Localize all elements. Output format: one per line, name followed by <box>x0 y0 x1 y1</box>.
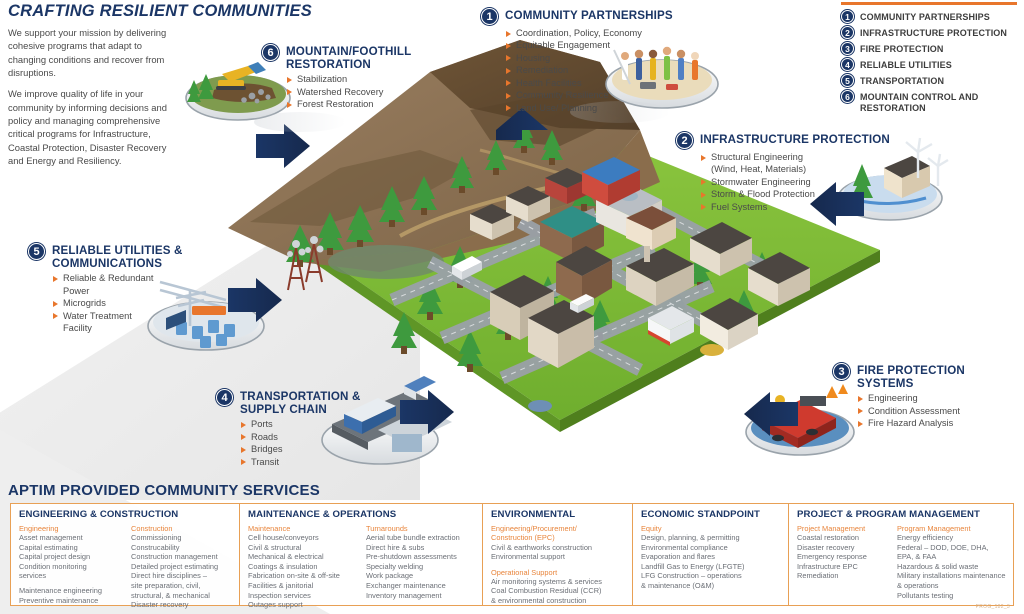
bullet-text: Housing <box>516 53 550 63</box>
services-panel-title: APTIM PROVIDED COMMUNITY SERVICES <box>8 482 320 499</box>
service-item: Inventory management <box>366 591 475 601</box>
service-item: Pre-shutdown assessments <box>366 552 475 562</box>
services-column-engineering-construction: ENGINEERING & CONSTRUCTION Engineering A… <box>11 504 239 605</box>
bullet-item: Stabilization <box>286 73 427 85</box>
service-item: & operations <box>897 581 1006 591</box>
bullet-triangle-icon <box>53 276 58 282</box>
bullet-item: Coordination, Policy, Economy <box>505 27 686 39</box>
service-item: Condition monitoring <box>19 562 123 572</box>
callout-infrastructure-protection: 2 INFRASTRUCTURE PROTECTION Structural E… <box>676 132 891 213</box>
bullet-text: Fuel Systems <box>711 202 767 212</box>
bullet-item: Housing <box>505 52 686 64</box>
service-item: LFG Construction – operations <box>641 571 781 581</box>
callout-bullets-4: Ports Roads Bridges Transit <box>240 418 381 468</box>
services-subheading-line2: Construction (EPC) <box>491 533 625 542</box>
bullet-text: Condition Assessment <box>868 406 960 416</box>
bullet-item-continuation: Power <box>52 285 188 297</box>
bullet-triangle-icon <box>287 77 292 83</box>
legend-badge-1: 1 <box>841 10 854 23</box>
bullet-text: Transit <box>251 457 279 467</box>
service-item: Landfill Gas to Energy (LFGTE) <box>641 562 781 572</box>
service-item: Asset management <box>19 533 123 543</box>
services-subgroup-maintenance: Maintenance Cell house/conveyors Civil &… <box>248 524 358 610</box>
bullet-item: Remediation <box>505 64 686 76</box>
legend-item-3[interactable]: 3 FIRE PROTECTION <box>841 42 1021 55</box>
callout-badge-3: 3 <box>833 363 850 380</box>
bullet-text: Water Treatment <box>63 311 132 321</box>
bullet-text: Microgrids <box>63 298 106 308</box>
bullet-triangle-icon <box>701 192 706 198</box>
bullet-triangle-icon <box>241 434 246 440</box>
services-column-heading: ECONOMIC STANDPOINT <box>641 509 781 520</box>
bullet-text: Stabilization <box>297 74 347 84</box>
service-item: Direct hire disciplines – <box>131 571 232 581</box>
service-item: Capital project design <box>19 552 123 562</box>
services-column-environmental: ENVIRONMENTAL Engineering/Procurement/ C… <box>482 504 632 605</box>
bullet-text: Community Resilience <box>516 90 608 100</box>
callout-badge-4: 4 <box>216 389 233 406</box>
bullet-item: Reliable & Redundant <box>52 272 188 284</box>
callout-title-2: INFRASTRUCTURE PROTECTION <box>700 132 890 146</box>
bullet-item: Engineering <box>857 392 1023 404</box>
bullet-triangle-icon <box>506 68 511 74</box>
bullet-triangle-icon <box>858 408 863 414</box>
bullet-text: Power <box>63 286 89 296</box>
bullet-text: Structural Engineering <box>711 152 803 162</box>
bullet-triangle-icon <box>506 43 511 49</box>
services-column-maintenance-operations: MAINTENANCE & OPERATIONS Maintenance Cel… <box>239 504 482 605</box>
service-item: Preventive maintenance <box>19 596 123 606</box>
service-item: Commissioning <box>131 533 232 543</box>
legend-badge-3: 3 <box>841 42 854 55</box>
legend-label-4: RELIABLE UTILITIES <box>860 58 952 71</box>
bullet-triangle-icon <box>506 80 511 86</box>
callout-mountain-restoration: 6 MOUNTAIN/FOOTHILL RESTORATION Stabiliz… <box>262 44 427 111</box>
callout-title-4: TRANSPORTATION & SUPPLY CHAIN <box>240 389 381 416</box>
callout-transportation: 4 TRANSPORTATION & SUPPLY CHAIN Ports Ro… <box>216 389 381 468</box>
callout-title-5: RELIABLE UTILITIES & COMMUNICATIONS <box>52 243 188 270</box>
bullet-item: Bridges <box>240 443 381 455</box>
callout-bullets-2: Structural Engineering (Wind, Heat, Mate… <box>700 151 891 213</box>
services-column-heading: ENGINEERING & CONSTRUCTION <box>19 509 232 520</box>
callout-reliable-utilities: 5 RELIABLE UTILITIES & COMMUNICATIONS Re… <box>28 243 188 335</box>
bullet-item: Forest Restoration <box>286 98 427 110</box>
service-item: Work package <box>366 571 475 581</box>
bullet-item: Stormwater Engineering <box>700 176 891 188</box>
bullet-triangle-icon <box>241 422 246 428</box>
callout-bullets-6: Stabilization Watershed Recovery Forest … <box>286 73 427 110</box>
callout-title-6: MOUNTAIN/FOOTHILL RESTORATION <box>286 44 427 71</box>
service-item: Remediation <box>797 571 889 581</box>
legend-item-5[interactable]: 5 TRANSPORTATION <box>841 74 1021 87</box>
bullet-triangle-icon <box>701 204 706 210</box>
callout-badge-1: 1 <box>481 8 498 25</box>
callout-fire-protection: 3 FIRE PROTECTION SYSTEMS Engineering Co… <box>833 363 1023 430</box>
document-code: PROG_182_3 <box>976 604 1010 610</box>
service-item: Design, planning, & permitting <box>641 533 781 543</box>
bullet-item: Microgrids <box>52 297 188 309</box>
legend: 1 COMMUNITY PARTNERSHIPS 2 INFRASTRUCTUR… <box>841 2 1021 116</box>
callout-title-3: FIRE PROTECTION SYSTEMS <box>857 363 1023 390</box>
bullet-item: Transit <box>240 456 381 468</box>
bullet-triangle-icon <box>506 105 511 111</box>
callout-badge-6: 6 <box>262 44 279 61</box>
service-item: Direct hire & subs <box>366 543 475 553</box>
bullet-triangle-icon <box>506 93 511 99</box>
bullet-text: Remediation <box>516 65 568 75</box>
service-item: & maintenance (O&M) <box>641 581 781 591</box>
legend-item-4[interactable]: 4 RELIABLE UTILITIES <box>841 58 1021 71</box>
legend-label-1: COMMUNITY PARTNERSHIPS <box>860 10 990 23</box>
services-column-heading: PROJECT & PROGRAM MANAGEMENT <box>797 509 1006 520</box>
intro-paragraph-2: We improve quality of life in your commu… <box>8 87 180 167</box>
bullet-item: Roads <box>240 431 381 443</box>
services-subgroup-epc: Engineering/Procurement/ Construction (E… <box>491 524 625 605</box>
service-item: Military installations maintenance <box>897 571 1006 581</box>
service-item: Environmental support <box>491 552 625 562</box>
bullet-item: Storm & Flood Protection <box>700 188 891 200</box>
callout-bullets-5: Reliable & Redundant Power Microgrids Wa… <box>52 272 188 334</box>
callout-badge-2: 2 <box>676 132 693 149</box>
page-title: CRAFTING RESILIENT COMMUNITIES <box>8 2 312 21</box>
services-subheading: Engineering <box>19 524 123 533</box>
legend-label-2: INFRASTRUCTURE PROTECTION <box>860 26 1007 39</box>
services-subgroup-equity: Equity Design, planning, & permitting En… <box>641 524 781 591</box>
services-column-heading: ENVIRONMENTAL <box>491 509 625 520</box>
service-item: Exchanger maintenance <box>366 581 475 591</box>
services-column-economic-standpoint: ECONOMIC STANDPOINT Equity Design, plann… <box>632 504 788 605</box>
service-item: Emergency response <box>797 552 889 562</box>
service-item: Coastal restoration <box>797 533 889 543</box>
service-item: Aerial tube bundle extraction <box>366 533 475 543</box>
bullet-text: Facility <box>63 323 92 333</box>
callout-bullets-3: Engineering Condition Assessment Fire Ha… <box>857 392 1023 429</box>
service-item: Mechanical & electrical <box>248 552 358 562</box>
bullet-text: Roads <box>251 432 278 442</box>
bullet-item-continuation: (Wind, Heat, Materials) <box>700 163 891 175</box>
bullet-triangle-icon <box>858 396 863 402</box>
services-subheading: Construction <box>131 524 232 533</box>
service-item: Environmental compliance <box>641 543 781 553</box>
bullet-text: Reliable & Redundant <box>63 273 153 283</box>
bullet-text: Health Facilities <box>516 78 582 88</box>
service-item: Energy efficiency <box>897 533 1006 543</box>
bullet-item: Fire Hazard Analysis <box>857 417 1023 429</box>
bullet-triangle-icon <box>53 313 58 319</box>
services-subheading: Operational Support <box>491 568 625 577</box>
service-item: Cell house/conveyors <box>248 533 358 543</box>
bullet-item: Land Use/ Planning <box>505 102 686 114</box>
services-subheading: Program Management <box>897 524 1006 533</box>
services-subgroup-engineering: Engineering Asset management Capital est… <box>19 524 123 610</box>
intro-paragraph-1: We support your mission by delivering co… <box>8 26 180 79</box>
infographic-page: CRAFTING RESILIENT COMMUNITIES We suppor… <box>0 0 1024 614</box>
legend-label-6: MOUNTAIN CONTROL AND RESTORATION <box>860 90 1021 113</box>
service-item: & environmental construction <box>491 596 625 606</box>
bullet-item: Fuel Systems <box>700 201 891 213</box>
service-item: Outages support <box>248 600 358 610</box>
services-subheading: Equity <box>641 524 781 533</box>
bullet-text: Ports <box>251 419 273 429</box>
bullet-item: Equitable Engagement <box>505 39 686 51</box>
service-item: Construcability <box>131 543 232 553</box>
bullet-item: Ports <box>240 418 381 430</box>
bullet-item: Structural Engineering <box>700 151 891 163</box>
bullet-text: Watershed Recovery <box>297 87 383 97</box>
service-item: Construction management <box>131 552 232 562</box>
legend-badge-6: 6 <box>841 90 854 103</box>
service-item: Evaporation and flares <box>641 552 781 562</box>
bullet-triangle-icon <box>506 31 511 37</box>
bullet-item-continuation: Facility <box>52 322 188 334</box>
service-item: Coatings & insulation <box>248 562 358 572</box>
bullet-triangle-icon <box>53 301 58 307</box>
services-subheading: Maintenance <box>248 524 358 533</box>
bullet-text: (Wind, Heat, Materials) <box>711 164 806 174</box>
services-subgroup-program-management: Program Management Energy efficiency Fed… <box>897 524 1006 600</box>
bullet-text: Coordination, Policy, Economy <box>516 28 642 38</box>
services-subheading: Project Management <box>797 524 889 533</box>
bullet-triangle-icon <box>701 155 706 161</box>
bullet-text: Bridges <box>251 444 283 454</box>
services-subheading: Engineering/Procurement/ <box>491 524 625 533</box>
bullet-item: Water Treatment <box>52 310 188 322</box>
service-item: Specialty welding <box>366 562 475 572</box>
service-item: Air monitoring systems & services <box>491 577 625 587</box>
service-item: site preparation, civil, <box>131 581 232 591</box>
bullet-text: Stormwater Engineering <box>711 177 811 187</box>
services-column-project-program-management: PROJECT & PROGRAM MANAGEMENT Project Man… <box>788 504 1013 605</box>
bullet-item: Community Resilience <box>505 89 686 101</box>
bullet-text: Land Use/ Planning <box>516 103 597 113</box>
service-item: Pollutants testing <box>897 591 1006 601</box>
service-item: Federal – DOD, DOE, DHA, EPA, & FAA <box>897 543 1006 562</box>
bullet-triangle-icon <box>241 459 246 465</box>
legend-item-1[interactable]: 1 COMMUNITY PARTNERSHIPS <box>841 10 1021 23</box>
legend-top-rule <box>841 2 1017 5</box>
callout-badge-5: 5 <box>28 243 45 260</box>
bullet-item: Condition Assessment <box>857 405 1023 417</box>
bullet-triangle-icon <box>287 89 292 95</box>
bullet-text: Equitable Engagement <box>516 40 610 50</box>
service-item: Disaster recovery <box>797 543 889 553</box>
bullet-triangle-icon <box>241 447 246 453</box>
legend-badge-2: 2 <box>841 26 854 39</box>
bullet-item: Health Facilities <box>505 77 686 89</box>
service-item: Hazardous & solid waste <box>897 562 1006 572</box>
services-subgroup-turnarounds: Turnarounds Aerial tube bundle extractio… <box>366 524 475 610</box>
services-subgroup-project-management: Project Management Coastal restoration D… <box>797 524 889 600</box>
bullet-triangle-icon <box>858 421 863 427</box>
service-item: Fabrication on-site & off-site <box>248 571 358 581</box>
bullet-item: Watershed Recovery <box>286 86 427 98</box>
bullet-triangle-icon <box>287 102 292 108</box>
legend-item-2[interactable]: 2 INFRASTRUCTURE PROTECTION <box>841 26 1021 39</box>
service-item: Facilities & janitorial <box>248 581 358 591</box>
services-subgroup-construction: Construction Commissioning Construcabili… <box>131 524 232 610</box>
services-column-heading: MAINTENANCE & OPERATIONS <box>248 509 475 520</box>
bullet-text: Fire Hazard Analysis <box>868 418 953 428</box>
service-item: Maintenance engineering <box>19 586 123 596</box>
callout-title-1: COMMUNITY PARTNERSHIPS <box>505 8 673 22</box>
bullet-text: Storm & Flood Protection <box>711 189 815 199</box>
bullet-triangle-icon <box>701 179 706 185</box>
service-item: services <box>19 571 123 581</box>
service-item: Civil & structural <box>248 543 358 553</box>
bullet-text: Forest Restoration <box>297 99 373 109</box>
bullet-triangle-icon <box>506 55 511 61</box>
callout-bullets-1: Coordination, Policy, Economy Equitable … <box>505 27 686 114</box>
legend-badge-5: 5 <box>841 74 854 87</box>
intro-text: We support your mission by delivering co… <box>8 26 180 167</box>
service-item: Coal Combustion Residual (CCR) <box>491 586 625 596</box>
service-item: Civil & earthworks construction <box>491 543 625 553</box>
bullet-text: Engineering <box>868 393 918 403</box>
services-panel: ENGINEERING & CONSTRUCTION Engineering A… <box>10 503 1014 606</box>
legend-badge-4: 4 <box>841 58 854 71</box>
legend-label-3: FIRE PROTECTION <box>860 42 944 55</box>
service-item: Disaster recovery <box>131 600 232 610</box>
legend-label-5: TRANSPORTATION <box>860 74 944 87</box>
service-item: Capital estimating <box>19 543 123 553</box>
legend-item-6[interactable]: 6 MOUNTAIN CONTROL AND RESTORATION <box>841 90 1021 113</box>
services-subheading: Turnarounds <box>366 524 475 533</box>
service-item: Inspection services <box>248 591 358 601</box>
service-item: Detailed project estimating <box>131 562 232 572</box>
callout-community-partnerships: 1 COMMUNITY PARTNERSHIPS Coordination, P… <box>481 8 686 114</box>
service-item: structural, & mechanical <box>131 591 232 601</box>
service-item: Infrastructure EPC <box>797 562 889 572</box>
